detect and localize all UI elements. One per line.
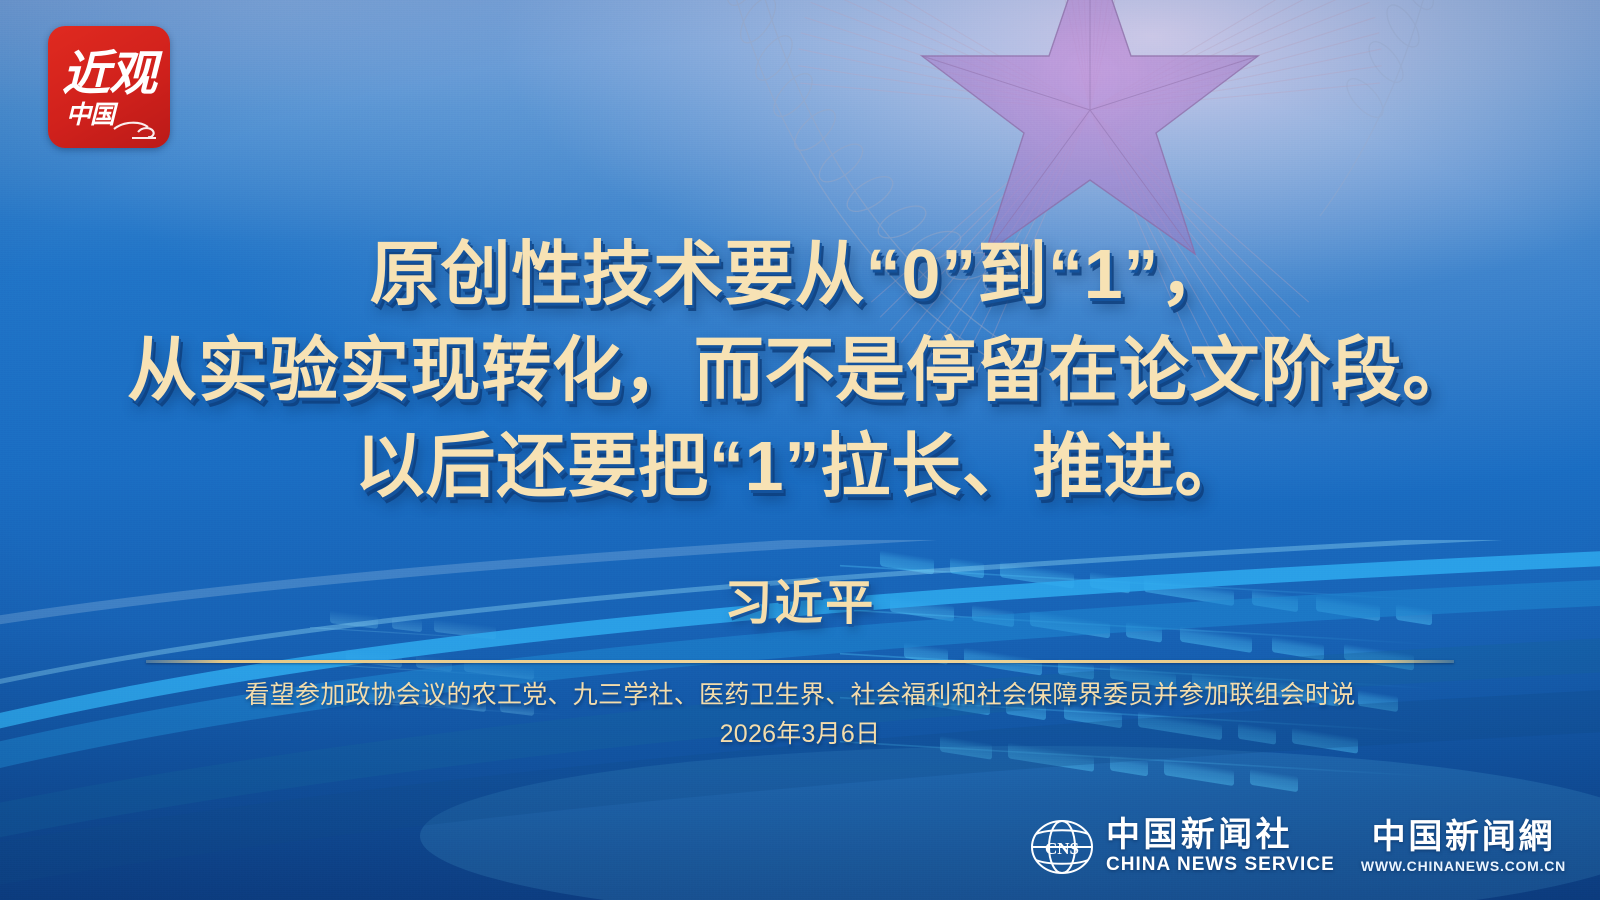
logo-main-text: 近观 — [62, 48, 163, 101]
footer-brand-logos: CNS 中国新闻社 CHINA NEWS SERVICE 中国新闻網 WWW.C… — [1030, 818, 1566, 876]
cns-globe-label: CNS — [1045, 839, 1079, 858]
china-news-service-logo[interactable]: CNS 中国新闻社 CHINA NEWS SERVICE — [1030, 818, 1335, 876]
chinanews-web-logo[interactable]: 中国新闻網 WWW.CHINANEWS.COM.CN — [1361, 820, 1566, 876]
cns-wordmark: 中国新闻社 CHINA NEWS SERVICE — [1106, 818, 1335, 876]
speaker-name: 习近平 — [0, 575, 1600, 633]
caption-date: 2026年3月6日 — [0, 715, 1600, 754]
quote-line-1: 原创性技术要从“0”到“1”， — [0, 226, 1600, 322]
quote-block: 原创性技术要从“0”到“1”， 从实验实现转化，而不是停留在论文阶段。 以后还要… — [0, 226, 1600, 514]
caption-occasion: 看望参加政协会议的农工党、九三学社、医药卫生界、社会福利和社会保障界委员并参加联… — [0, 676, 1600, 715]
quote-line-3: 以后还要把“1”拉长、推进。 — [0, 418, 1600, 514]
cns-english-name: CHINA NEWS SERVICE — [1106, 854, 1335, 876]
poster-canvas: 近观 中国 原创性技术要从“0”到“1”， 从实验实现转化，而不是停留在论文阶段… — [0, 0, 1600, 900]
caption-block: 看望参加政协会议的农工党、九三学社、医药卫生界、社会福利和社会保障界委员并参加联… — [0, 676, 1600, 754]
cns-globe-icon: CNS — [1030, 818, 1094, 876]
quote-line-2: 从实验实现转化，而不是停留在论文阶段。 — [0, 322, 1600, 418]
chinanews-url: WWW.CHINANEWS.COM.CN — [1361, 856, 1566, 876]
chinanews-chinese-name: 中国新闻網 — [1372, 820, 1556, 856]
cns-chinese-name: 中国新闻社 — [1106, 818, 1293, 854]
jinguan-zhongguo-logo[interactable]: 近观 中国 — [48, 26, 170, 148]
gold-divider-rule — [146, 660, 1454, 663]
cloud-swirl-icon — [114, 123, 156, 138]
logo-sub-text: 中国 — [66, 101, 119, 129]
